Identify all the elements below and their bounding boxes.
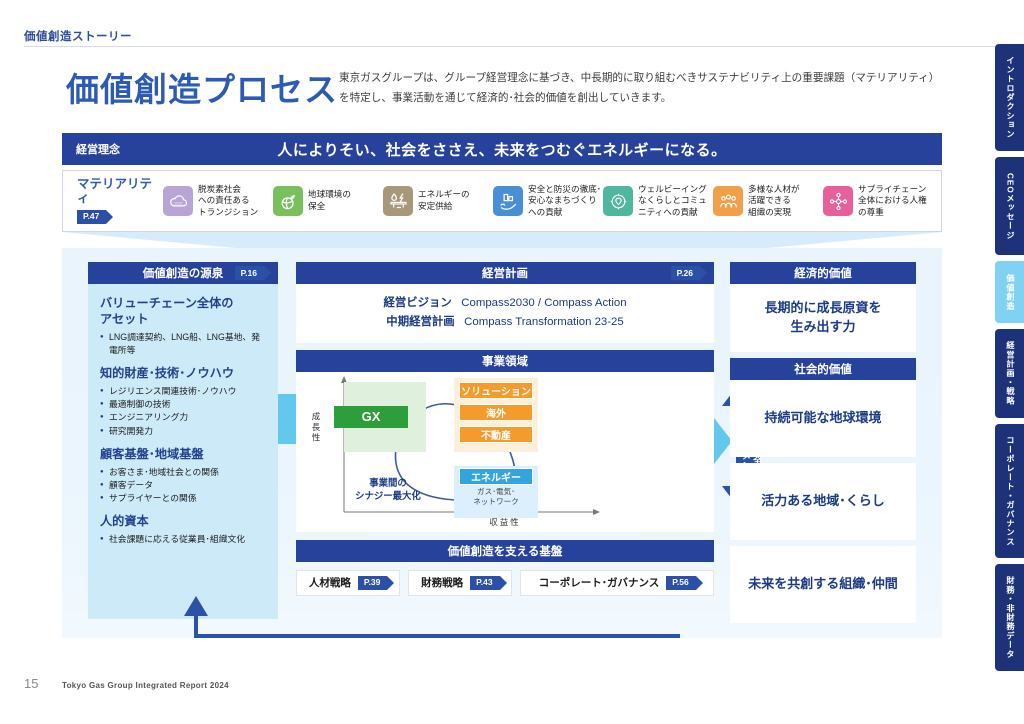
business-domain-title: 事業領域	[482, 353, 528, 369]
section-tab-3[interactable]: 価値創造	[995, 261, 1024, 323]
foundation-header: 価値創造を支える基盤	[296, 540, 714, 562]
report-page: 価値創造ストーリー 価値創造プロセス 東京ガスグループは、グループ経営理念に基づ…	[0, 0, 1024, 724]
list-item: 最適制御の技術	[100, 398, 266, 411]
page-lede: 東京ガスグループは、グループ経営理念に基づき、中長期的に取り組むべきサステナビリ…	[339, 69, 939, 108]
foundation-card-label: 財務戦略	[421, 575, 463, 590]
economic-value-title: 経済的価値	[794, 265, 852, 281]
philosophy-bar: 経営理念 人によりそい、社会をささえ、未来をつむぐエネルギーになる。	[62, 133, 942, 165]
chart-item-1: ソリューション	[459, 382, 533, 399]
value-source-bullet-list: レジリエンス関連技術･ノウハウ最適制御の技術エンジニアリング力研究開発力	[100, 385, 266, 438]
social-value-title: 社会的価値	[794, 361, 852, 377]
materiality-item: サプライチェーン全体における人権の尊重	[823, 184, 933, 219]
management-plan-line: 経営ビジョン Compass2030 / Compass Action	[296, 294, 714, 313]
management-plan-column: 経営計画 P.26 経営ビジョン Compass2030 / Compass A…	[296, 262, 714, 596]
plan-line-label: 中期経営計画	[386, 316, 454, 328]
materiality-item: CO2脱炭素社会への責任あるトランジション	[163, 184, 273, 219]
section-tab-5[interactable]: コーポレート・ガバナンス	[995, 424, 1024, 558]
plan-line-label: 経営ビジョン	[383, 297, 451, 309]
value-sources-header: 価値創造の源泉 P.16	[88, 262, 278, 284]
foundation-card-page-tag[interactable]: P.39	[358, 576, 387, 590]
management-plan-title: 経営計画	[482, 265, 528, 281]
chart-y-axis-label: 成長性	[310, 412, 322, 444]
social-value-header: 社会的価値	[730, 358, 916, 380]
materiality-item-label: エネルギーの安定供給	[418, 189, 470, 212]
footer-note: Tokyo Gas Group Integrated Report 2024	[62, 681, 229, 690]
list-item: 社会課題に応える従業員･組織文化	[100, 533, 266, 546]
list-item: エンジニアリング力	[100, 411, 266, 424]
social-value-item: 未来を共創する組織･仲間	[730, 546, 916, 623]
section-tabs[interactable]: イントロダクションCEOメッセージ価値創造経営計画・戦略コーポレート・ガバナンス…	[995, 44, 1024, 677]
management-plan-page-tag[interactable]: P.26	[671, 266, 700, 280]
wellbeing-icon	[603, 186, 633, 216]
cloud-co2-icon: CO2	[163, 186, 193, 216]
materiality-item: 多様な人材が活躍できる組織の実現	[713, 184, 823, 219]
plan-line-value: Compass2030 / Compass Action	[461, 297, 626, 309]
social-value-item: 持続可能な地球環境	[730, 380, 916, 457]
header-divider	[24, 46, 1000, 47]
section-tab-4[interactable]: 経営計画・戦略	[995, 329, 1024, 418]
list-item: 顧客データ	[100, 479, 266, 492]
value-source-bullet-list: お客さま･地域社会との関係顧客データサプライヤーとの関係	[100, 466, 266, 506]
list-item: お客さま･地域社会との関係	[100, 466, 266, 479]
materiality-item: 地球環境の保全	[273, 184, 383, 219]
economic-value-text: 長期的に成長原資を生み出す力	[730, 284, 916, 352]
section-tab-2[interactable]: CEOメッセージ	[995, 157, 1024, 255]
list-item: レジリエンス関連技術･ノウハウ	[100, 385, 266, 398]
chart-item-energy: エネルギー	[459, 468, 533, 485]
diversity-people-icon	[713, 186, 743, 216]
materiality-item-label: 地球環境の保全	[308, 189, 351, 212]
value-source-heading: 人的資本	[100, 514, 266, 530]
materiality-page-tag[interactable]: P.47	[77, 210, 106, 224]
management-plan-line: 中期経営計画 Compass Transformation 23-25	[296, 313, 714, 332]
value-outcomes-column: 経済的価値 長期的に成長原資を生み出す力 社会的価値 持続可能な地球環境活力ある…	[730, 262, 916, 623]
materiality-item: ウェルビーイングなくらしとコミュニティへの貢献	[603, 184, 713, 219]
value-source-heading: 知的財産･技術･ノウハウ	[100, 366, 266, 382]
foundation-card-label: コーポレート･ガバナンス	[539, 575, 660, 590]
value-sources-title: 価値創造の源泉	[143, 265, 224, 281]
materiality-item: エネルギーの安定供給	[383, 184, 493, 219]
foundation-title: 価値創造を支える基盤	[448, 543, 563, 559]
section-tab-6[interactable]: 財務・非財務データ	[995, 564, 1024, 671]
chart-item-3: 不動産	[459, 426, 533, 443]
chart-item-energy-sub: ガス･電気･ネットワーク	[456, 487, 536, 508]
page-title: 価値創造プロセス	[66, 63, 338, 111]
business-domain-box: 事業領域 成長性 収益性 GX ソリューション海外不動産	[296, 350, 714, 532]
value-sources-page-tag[interactable]: P.16	[235, 266, 264, 280]
foundation-box: 価値創造を支える基盤 人材戦略P.39財務戦略P.43コーポレート･ガバナンスP…	[296, 540, 714, 596]
list-item: 研究開発力	[100, 425, 266, 438]
materiality-title: マテリアリティ	[77, 178, 163, 206]
materiality-item: 安全と防災の徹底･安心なまちづくりへの貢献	[493, 184, 603, 219]
business-domain-header: 事業領域	[296, 350, 714, 372]
value-source-bullet-list: 社会課題に応える従業員･組織文化	[100, 533, 266, 546]
foundation-card-page-tag[interactable]: P.43	[470, 576, 499, 590]
management-plan-box: 経営計画 P.26 経営ビジョン Compass2030 / Compass A…	[296, 262, 714, 343]
feedback-loop-arrow-icon	[150, 590, 680, 650]
value-sources-body: バリューチェーン全体のアセットLNG調達契約、LNG船、LNG基地、発電所等知的…	[88, 284, 278, 546]
page-kicker: 価値創造ストーリー	[24, 28, 132, 44]
materiality-items: CO2脱炭素社会への責任あるトランジション地球環境の保全エネルギーの安定供給安全…	[163, 184, 933, 219]
social-value-item: 活力ある地域･くらし	[730, 463, 916, 540]
list-item: サプライヤーとの関係	[100, 492, 266, 505]
list-item: LNG調達契約、LNG船、LNG基地、発電所等	[100, 331, 266, 357]
value-sources-column: 価値創造の源泉 P.16 バリューチェーン全体のアセットLNG調達契約、LNG船…	[88, 262, 278, 619]
plan-line-value: Compass Transformation 23-25	[464, 316, 624, 328]
materiality-item-label: 多様な人材が活躍できる組織の実現	[748, 184, 800, 219]
materiality-item-label: ウェルビーイングなくらしとコミュニティへの貢献	[638, 184, 707, 219]
human-rights-icon	[823, 186, 853, 216]
safe-town-icon	[493, 186, 523, 216]
materiality-title-block: マテリアリティ P.47	[71, 178, 163, 224]
page-number: 15	[24, 676, 38, 691]
chart-item-gx: GX	[334, 406, 408, 428]
value-source-heading: バリューチェーン全体のアセット	[100, 296, 266, 328]
section-tab-1[interactable]: イントロダクション	[995, 44, 1024, 151]
chart-item-2: 海外	[459, 404, 533, 421]
energy-supply-icon	[383, 186, 413, 216]
materiality-strip: マテリアリティ P.47 CO2脱炭素社会への責任あるトランジション地球環境の保…	[62, 170, 942, 232]
value-source-bullet-list: LNG調達契約、LNG船、LNG基地、発電所等	[100, 331, 266, 357]
social-value-list: 持続可能な地球環境活力ある地域･くらし未来を共創する組織･仲間	[730, 380, 916, 623]
foundation-card-page-tag[interactable]: P.56	[666, 576, 695, 590]
philosophy-text: 人によりそい、社会をささえ、未来をつむぐエネルギーになる。	[62, 139, 942, 160]
economic-value-header: 経済的価値	[730, 262, 916, 284]
svg-text:CO2: CO2	[174, 200, 182, 205]
value-source-heading: 顧客基盤･地域基盤	[100, 447, 266, 463]
foundation-card-label: 人材戦略	[309, 575, 351, 590]
business-portfolio-chart: 成長性 収益性 GX ソリューション海外不動産 エネルギー ガス･電気･ネットワ…	[296, 372, 714, 532]
management-plan-header: 経営計画 P.26	[296, 262, 714, 284]
earth-leaf-icon	[273, 186, 303, 216]
materiality-item-label: サプライチェーン全体における人権の尊重	[858, 184, 927, 219]
materiality-item-label: 安全と防災の徹底･安心なまちづくりへの貢献	[528, 184, 601, 219]
materiality-item-label: 脱炭素社会への責任あるトランジション	[198, 184, 258, 219]
management-plan-lines: 経営ビジョン Compass2030 / Compass Action中期経営計…	[296, 284, 714, 343]
chart-synergy-note: 事業間のシナジー最大化	[340, 476, 436, 502]
